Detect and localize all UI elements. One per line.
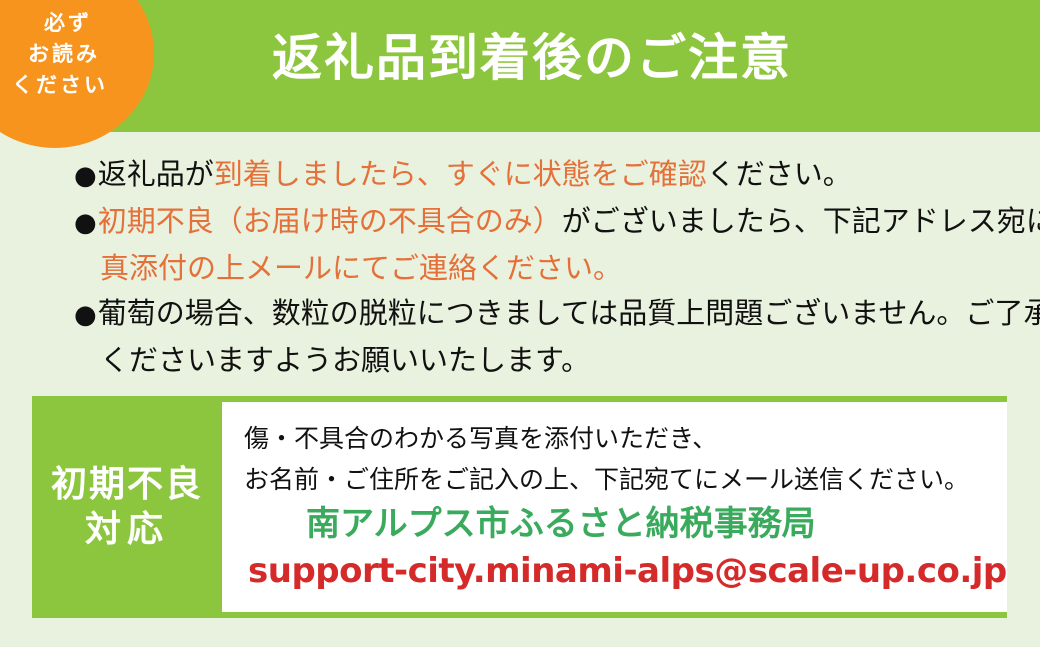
note-3-line2: くださいますようお願いいたします。 [100,343,590,377]
notes-list: ●返礼品が到着しましたら、すぐに状態をご確認ください。 ●初期不良（お届け時の不… [74,152,1024,383]
bullet-icon: ● [74,208,98,238]
badge-line-3: ください [0,70,160,101]
organization-name: 南アルプス市ふるさと納税事務局 [244,500,1007,548]
contact-instruction-line-1: 傷・不具合のわかる写真を添付いただき、 [244,418,1007,459]
defect-response-box: 初期不良 対応 傷・不具合のわかる写真を添付いただき、 お名前・ご住所をご記入の… [32,396,1007,618]
note-item-3: ●葡萄の場合、数粒の脱粒につきましては品質上問題ございません。ご了承 [74,291,1024,338]
must-read-badge-text: 必ず お読み ください [0,8,160,101]
contact-email[interactable]: support-city.minami-alps@scale-up.co.jp [244,548,1007,595]
note-3-line1: 葡萄の場合、数粒の脱粒につきましては品質上問題ございません。ご了承 [98,296,1040,330]
contact-instruction-line-2: お名前・ご住所をご記入の上、下記宛てにメール送信ください。 [244,459,1007,500]
note-1-plain-end: ください。 [707,157,852,191]
bullet-icon: ● [74,300,98,330]
note-1-highlight: 到着しましたら、すぐに状態をご確認 [214,157,707,191]
defect-response-label-line2: 対応 [85,507,169,552]
defect-response-label: 初期不良 対応 [32,396,222,618]
note-2-plain-mid: がございましたら、下記アドレス宛に [562,204,1040,238]
note-item-3-line-2: くださいますようお願いいたします。 [74,338,1024,383]
note-1-plain-start: 返礼品が [98,157,214,191]
bullet-icon: ● [74,161,98,191]
defect-response-content: 傷・不具合のわかる写真を添付いただき、 お名前・ご住所をご記入の上、下記宛てにメ… [222,402,1007,612]
badge-line-2: お読み [0,39,160,70]
notice-poster: 返礼品到着後のご注意 必ず お読み ください ●返礼品が到着しましたら、すぐに状… [0,0,1040,647]
note-2-highlight-start: 初期不良（お届け時の不具合のみ） [98,204,562,238]
note-item-2: ●初期不良（お届け時の不具合のみ）がございましたら、下記アドレス宛に写 [74,199,1024,246]
note-item-1: ●返礼品が到着しましたら、すぐに状態をご確認ください。 [74,152,1024,199]
defect-response-label-line1: 初期不良 [51,462,203,507]
badge-line-1: 必ず [0,8,160,39]
page-title: 返礼品到着後のご注意 [272,30,972,88]
note-item-2-line-2: 真添付の上メールにてご連絡ください。 [74,246,1024,291]
note-2-line2-highlight: 真添付の上メールにてご連絡ください。 [100,251,622,285]
